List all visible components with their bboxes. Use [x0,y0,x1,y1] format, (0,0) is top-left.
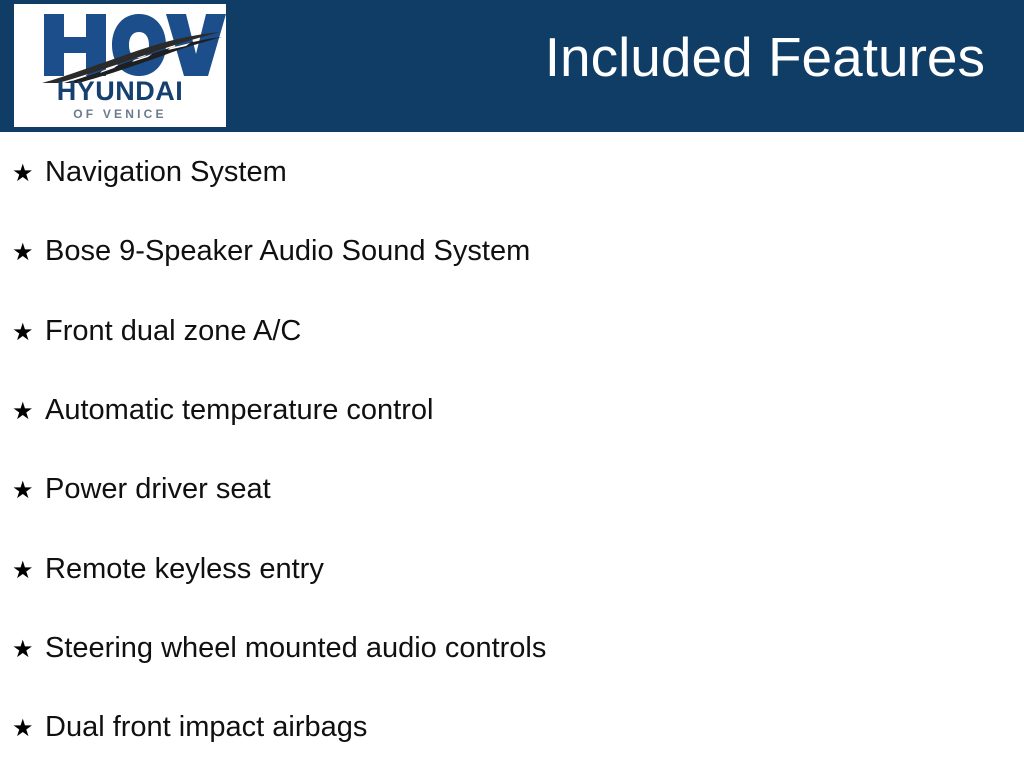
dealer-wordmark: HYUNDAI [14,78,226,105]
feature-list-item: ★Automatic temperature control [12,396,433,425]
star-bullet-icon: ★ [12,320,45,344]
star-bullet-icon: ★ [12,399,45,423]
feature-item-label: Remote keyless entry [45,555,324,584]
dealer-subwordmark: OF VENICE [14,108,226,120]
slide-header: HYUNDAI OF VENICE Included Features [0,0,1024,132]
feature-item-label: Power driver seat [45,475,271,504]
included-features-list: ★Navigation System★Bose 9-Speaker Audio … [0,132,1024,768]
star-bullet-icon: ★ [12,478,45,502]
feature-item-label: Automatic temperature control [45,396,433,425]
feature-item-label: Bose 9-Speaker Audio Sound System [45,237,530,266]
feature-list-item: ★Front dual zone A/C [12,317,301,346]
feature-list-item: ★Steering wheel mounted audio controls [12,634,546,663]
page-title: Included Features [545,28,985,87]
feature-item-label: Navigation System [45,158,287,187]
feature-list-item: ★Remote keyless entry [12,555,324,584]
star-bullet-icon: ★ [12,637,45,661]
dealer-logo: HYUNDAI OF VENICE [14,4,226,127]
feature-list-item: ★Bose 9-Speaker Audio Sound System [12,237,530,266]
feature-list-item: ★Dual front impact airbags [12,713,367,742]
star-bullet-icon: ★ [12,240,45,264]
feature-item-label: Steering wheel mounted audio controls [45,634,546,663]
feature-list-item: ★Navigation System [12,158,287,187]
star-bullet-icon: ★ [12,716,45,740]
hov-monogram-icon [14,4,226,84]
feature-item-label: Front dual zone A/C [45,317,301,346]
feature-list-item: ★Power driver seat [12,475,271,504]
star-bullet-icon: ★ [12,558,45,582]
star-bullet-icon: ★ [12,161,45,185]
feature-item-label: Dual front impact airbags [45,713,367,742]
